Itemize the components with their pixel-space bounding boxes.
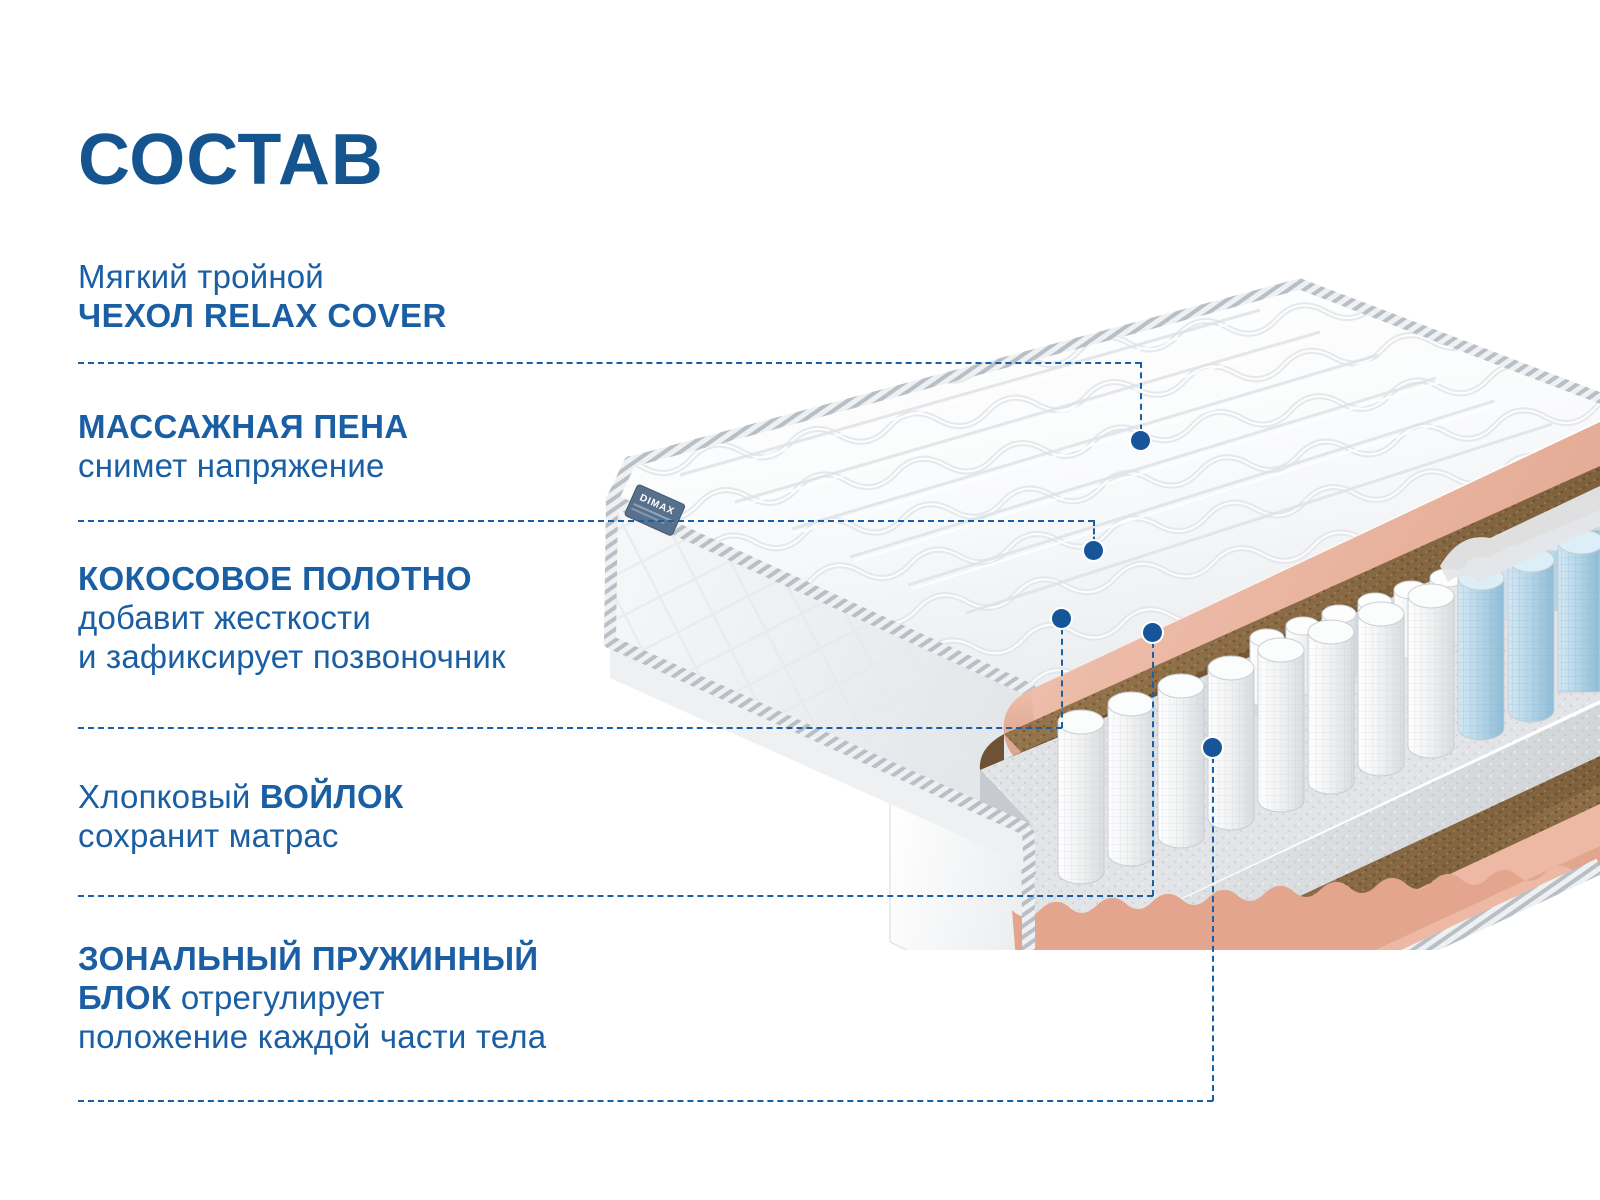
layer-label-spring-block: ЗОНАЛЬНЫЙ ПРУЖИННЫЙ БЛОК отрегулирует по… [78,940,546,1057]
layer-coconut-line2: добавит жесткости [78,599,506,638]
page-title: СОСТАВ [78,124,384,196]
layer-coconut-line3: и зафиксирует позвоночник [78,638,506,677]
layer-label-felt: Хлопковый ВОЙЛОК сохранит матрас [78,778,404,856]
layer-label-cover: Мягкий тройной ЧЕХОЛ RELAX COVER [78,258,447,336]
layer-label-foam: МАССАЖНАЯ ПЕНА снимет напряжение [78,408,409,486]
layer-felt-line2: сохранит матрас [78,817,404,856]
connector-line-cover-h [78,362,1141,364]
connector-dot-cover [1131,431,1150,450]
connector-dot-spring [1203,738,1222,757]
layer-felt-line1-bold: ВОЙЛОК [260,778,404,815]
connector-dot-coconut [1052,609,1071,628]
connector-line-felt-v [1152,632,1154,896]
layer-label-coconut: КОКОСОВОЕ ПОЛОТНО добавит жесткости и за… [78,560,506,677]
layer-spring-line3: положение каждой части тела [78,1018,546,1057]
layer-spring-line2: БЛОК отрегулирует [78,979,546,1018]
connector-line-spring-v [1212,747,1214,1101]
connector-dot-felt [1143,623,1162,642]
layer-coconut-line1: КОКОСОВОЕ ПОЛОТНО [78,560,506,599]
layer-felt-line1: Хлопковый ВОЙЛОК [78,778,404,817]
layer-spring-line2-post: отрегулирует [171,979,384,1016]
connector-line-foam-h [78,520,1094,522]
connector-line-coconut-v [1061,618,1063,728]
composition-infographic: СОСТАВ Мягкий тройной ЧЕХОЛ RELAX COVER … [0,0,1600,1200]
connector-line-coconut-h [78,727,1062,729]
connector-dot-foam [1084,541,1103,560]
connector-line-spring-h [78,1100,1213,1102]
layer-cover-line2: ЧЕХОЛ RELAX COVER [78,297,447,336]
layer-foam-line1: МАССАЖНАЯ ПЕНА [78,408,409,447]
layer-foam-line2: снимет напряжение [78,447,409,486]
connector-line-felt-h [78,895,1153,897]
connector-line-cover-v [1140,362,1142,441]
layer-cover-line1: Мягкий тройной [78,258,447,297]
mattress-cutaway-illustration: DIMAX [560,270,1600,950]
layer-spring-line2-bold: БЛОК [78,979,171,1016]
layer-spring-line1: ЗОНАЛЬНЫЙ ПРУЖИННЫЙ [78,940,546,979]
layer-felt-line1-pre: Хлопковый [78,778,260,815]
